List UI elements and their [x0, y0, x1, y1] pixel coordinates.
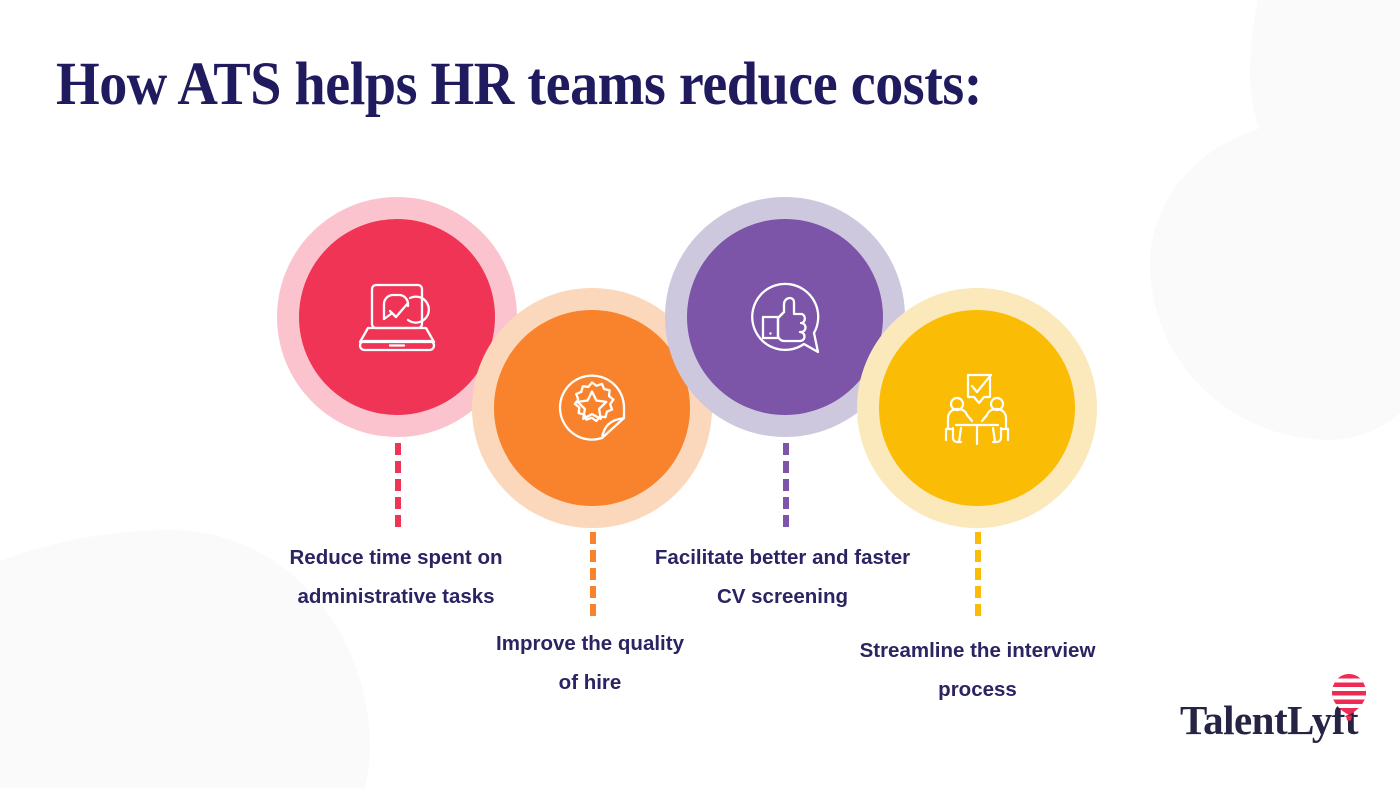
- caption-line-1: Facilitate better and faster: [630, 538, 935, 577]
- caption-line-2: administrative tasks: [246, 577, 546, 616]
- laptop-check-icon: [354, 277, 440, 357]
- caption-line-2: process: [835, 670, 1120, 709]
- caption-line-1: Improve the quality: [455, 624, 725, 663]
- decorative-blob-top-right: [1250, 0, 1400, 250]
- caption-faster-cv-screening: Facilitate better and faster CV screenin…: [630, 538, 935, 616]
- circle-reduce-admin-time[interactable]: [299, 219, 495, 415]
- connector-dash-3: [783, 443, 789, 527]
- caption-streamline-interview: Streamline the interview process: [835, 631, 1120, 709]
- caption-line-1: Streamline the interview: [835, 631, 1120, 670]
- infographic-canvas: How ATS helps HR teams reduce costs: Red…: [0, 0, 1400, 788]
- decorative-blob-top-right-secondary: [1150, 120, 1400, 440]
- thumbs-up-speech-bubble-icon: [742, 276, 828, 358]
- caption-line-2: CV screening: [630, 577, 935, 616]
- caption-reduce-admin-time: Reduce time spent on administrative task…: [246, 538, 546, 616]
- circle-faster-cv-screening[interactable]: [687, 219, 883, 415]
- caption-line-2: of hire: [455, 663, 725, 702]
- connector-dash-1: [395, 443, 401, 527]
- talentlyft-logo[interactable]: TalentLyft: [1180, 700, 1358, 741]
- interview-table-check-icon: [935, 366, 1019, 450]
- star-badge-icon: [550, 366, 634, 450]
- connector-dash-4: [975, 532, 981, 616]
- page-title: How ATS helps HR teams reduce costs:: [56, 53, 982, 117]
- hot-air-balloon-icon: [1326, 672, 1372, 731]
- circle-improve-quality-of-hire[interactable]: [494, 310, 690, 506]
- caption-line-1: Reduce time spent on: [246, 538, 546, 577]
- connector-dash-2: [590, 532, 596, 616]
- circle-streamline-interview[interactable]: [879, 310, 1075, 506]
- caption-improve-quality-of-hire: Improve the quality of hire: [455, 624, 725, 702]
